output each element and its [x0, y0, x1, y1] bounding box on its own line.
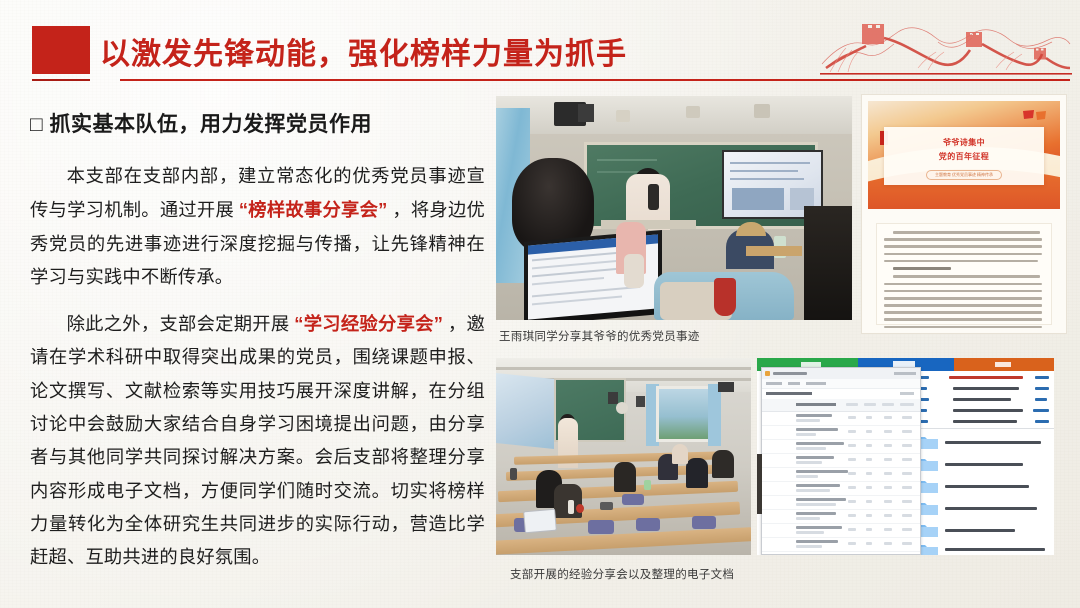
article-wechat-post: 爷爷诗集中 党的百年征程 主题教育 优秀党员事迹 精神传承: [861, 94, 1067, 334]
article-body: [876, 223, 1052, 325]
article-tag: 主题教育 优秀党员事迹 精神传承: [926, 170, 1002, 180]
para2-highlight: “学习经验分享会”: [294, 313, 443, 334]
title-rule-left: [32, 79, 90, 81]
file-explorer-window[interactable]: [761, 367, 921, 555]
body-text-column: 本支部在支部内部，建立常态化的优秀党员事迹宣传与学习机制。通过开展 “榜样故事分…: [30, 160, 485, 588]
para2-seg1: 除此之外，支部会定期开展: [67, 314, 290, 334]
slide-canvas: 以激发先锋动能，强化榜样力量为抓手: [0, 0, 1080, 608]
article-banner: 爷爷诗集中 党的百年征程 主题教育 优秀党员事迹 精神传承: [868, 101, 1060, 209]
paragraph-2: 除此之外，支部会定期开展 “学习经验分享会” ，邀请在学术科研中取得突出成果的党…: [30, 307, 485, 574]
page-title: 以激发先锋动能，强化榜样力量为抓手: [100, 26, 627, 76]
section-heading-text: 抓实基本队伍，用力发挥党员作用: [50, 113, 373, 136]
title-red-block: [32, 26, 90, 74]
great-wall-icon: [820, 2, 1072, 82]
caption-seminar-documents: 支部开展的经验分享会以及整理的电子文档: [510, 566, 734, 582]
article-title-card: 爷爷诗集中 党的百年征程 主题教育 优秀党员事迹 精神传承: [884, 127, 1044, 185]
screenshot-file-manager: [757, 358, 1054, 555]
section-heading: □ 抓实基本队伍，用力发挥党员作用: [30, 108, 372, 138]
para2-seg3: ，邀请在学术科研中取得突出成果的党员，围绕课题申报、论文撰写、文献检索等实用技巧…: [30, 314, 485, 567]
paragraph-1: 本支部在支部内部，建立常态化的优秀党员事迹宣传与学习机制。通过开展 “榜样故事分…: [30, 160, 485, 294]
caption-photo-classroom: 王雨琪同学分享其爷爷的优秀党员事迹: [499, 328, 700, 344]
article-title-line1: 爷爷诗集中: [884, 136, 1044, 150]
photo-seminar-hall: [496, 358, 751, 555]
para1-highlight: “榜样故事分享会”: [239, 199, 388, 220]
flag-icon: [1022, 109, 1048, 123]
section-bullet-icon: □: [30, 113, 43, 136]
article-title-line2: 党的百年征程: [884, 150, 1044, 164]
photo-classroom-lecture: [496, 96, 852, 320]
